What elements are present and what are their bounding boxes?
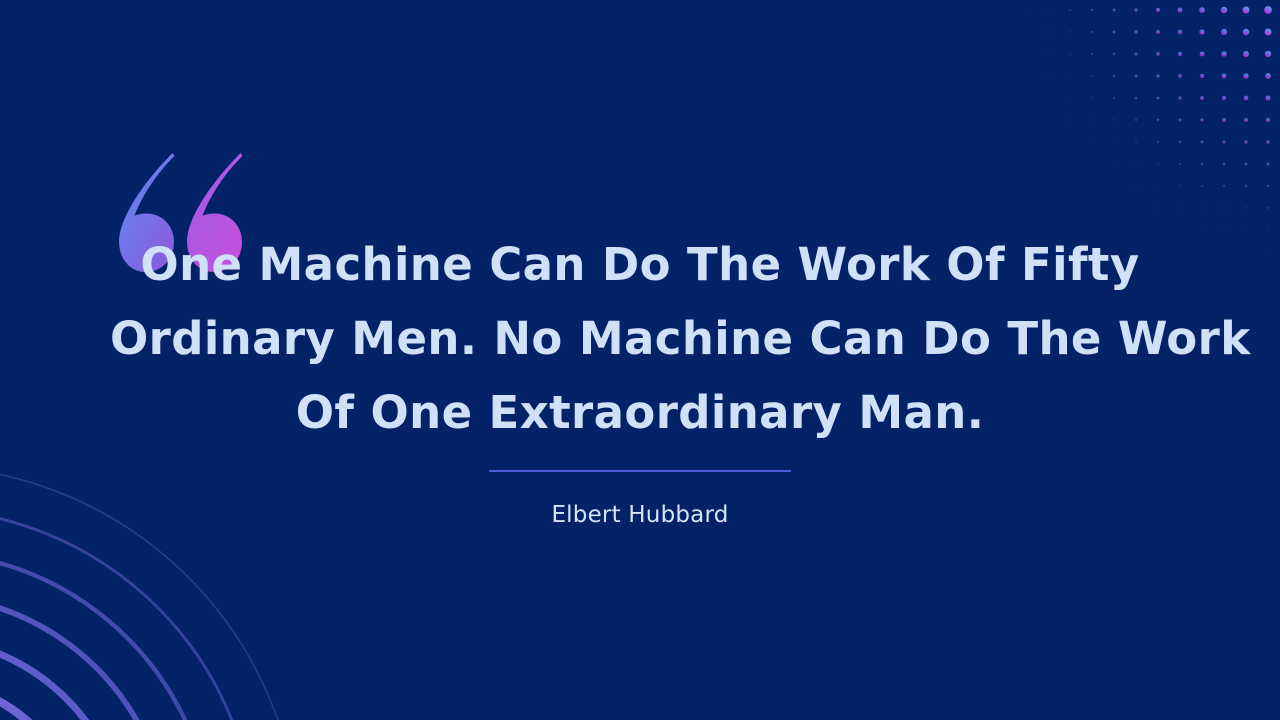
attribution-divider	[489, 470, 791, 472]
quote-content-block: One Machine Can Do The Work Of Fifty Ord…	[0, 0, 1280, 720]
attribution-block: Elbert Hubbard	[0, 470, 1280, 528]
quote-line-1: One Machine Can Do The Work Of Fifty	[110, 228, 1170, 302]
quote-line-3: Of One Extraordinary Man.	[110, 376, 1170, 450]
quote-slide: One Machine Can Do The Work Of Fifty Ord…	[0, 0, 1280, 720]
author-name: Elbert Hubbard	[0, 502, 1280, 528]
quote-text: One Machine Can Do The Work Of Fifty Ord…	[110, 228, 1170, 450]
quote-line-2: Ordinary Men. No Machine Can Do The Work	[110, 302, 1170, 376]
